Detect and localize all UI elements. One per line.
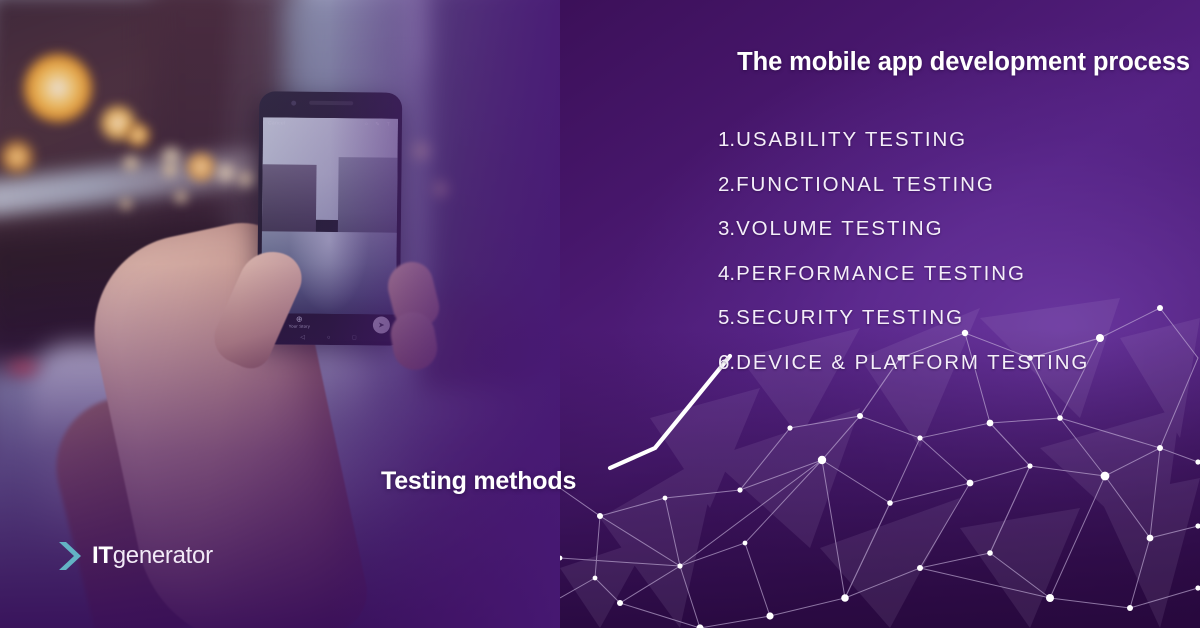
list-item: 6. DEVICE & PLATFORM TESTING	[718, 351, 1188, 375]
list-item: 3. VOLUME TESTING	[718, 217, 1188, 241]
chevron-right-icon	[57, 541, 83, 571]
logo[interactable]: ITgenerator	[57, 541, 213, 571]
list-item-label: SECURITY TESTING	[736, 306, 964, 330]
list-item-label: DEVICE & PLATFORM TESTING	[736, 351, 1089, 375]
page-title: The mobile app development process	[690, 48, 1190, 77]
testing-methods-list: 1. USABILITY TESTING 2. FUNCTIONAL TESTI…	[718, 128, 1188, 395]
list-item-number: 6.	[718, 351, 735, 375]
list-item: 1. USABILITY TESTING	[718, 128, 1188, 152]
list-item-number: 2.	[718, 173, 735, 197]
list-item-number: 5.	[718, 306, 735, 330]
list-item-label: VOLUME TESTING	[736, 217, 943, 241]
caption-testing-methods: Testing methods	[381, 467, 576, 496]
list-item-label: USABILITY TESTING	[736, 128, 967, 152]
list-item-label: FUNCTIONAL TESTING	[736, 173, 995, 197]
list-item-label: PERFORMANCE TESTING	[736, 262, 1026, 286]
list-item-number: 4.	[718, 262, 735, 286]
list-item-number: 3.	[718, 217, 735, 241]
banner: Cancel ○ ✎ T ⤓ Save ⊕ Your Story ➤ ◁○□	[0, 0, 1200, 628]
list-item: 4. PERFORMANCE TESTING	[718, 262, 1188, 286]
logo-text: ITgenerator	[92, 542, 213, 570]
list-item-number: 1.	[718, 128, 735, 152]
logo-text-bold: IT	[92, 542, 113, 569]
list-item: 5. SECURITY TESTING	[718, 306, 1188, 330]
logo-text-light: generator	[113, 542, 213, 569]
list-item: 2. FUNCTIONAL TESTING	[718, 173, 1188, 197]
